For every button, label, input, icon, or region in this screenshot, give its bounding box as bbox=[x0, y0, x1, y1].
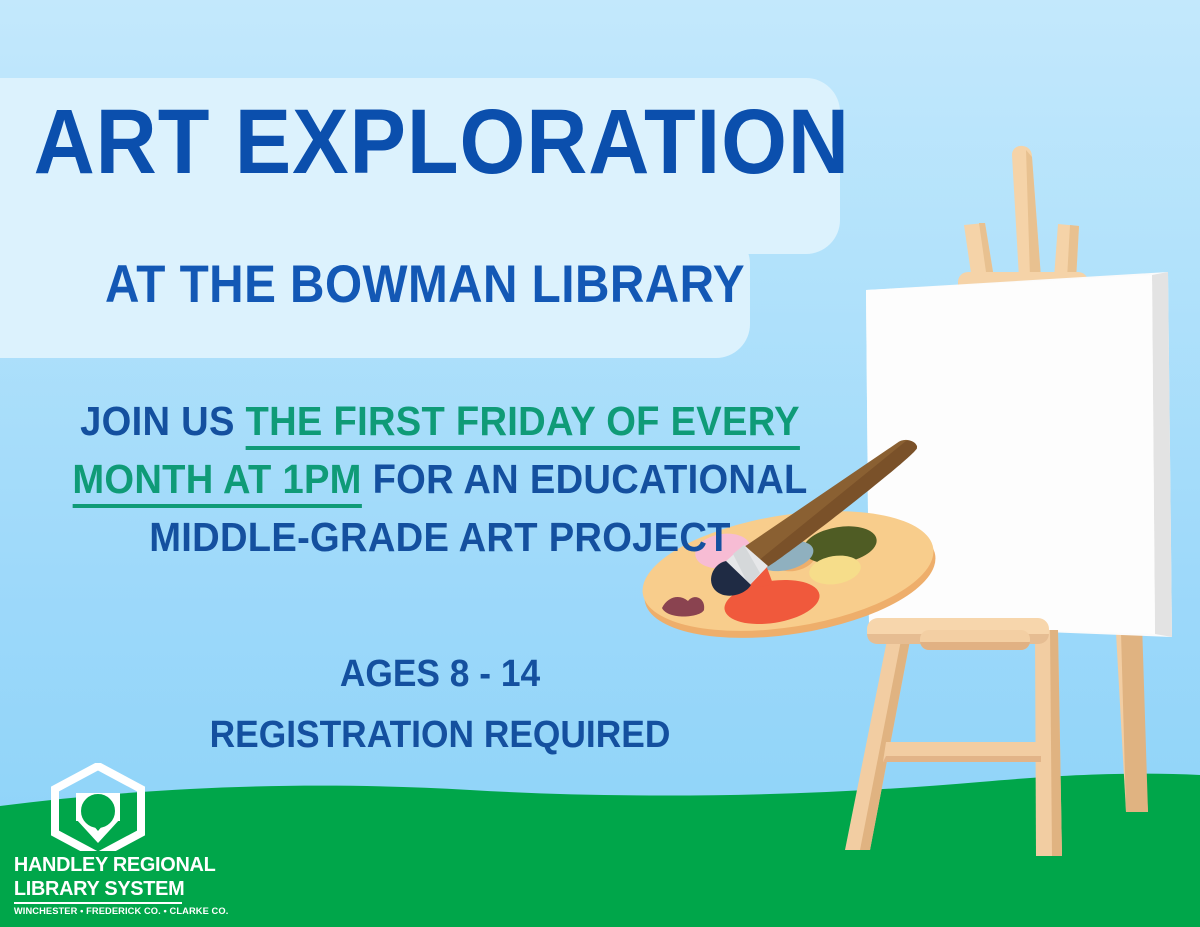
easel-mast bbox=[958, 146, 1088, 294]
description-line-3: MIDDLE-GRADE ART PROJECT bbox=[31, 508, 849, 566]
schedule-highlight-2: MONTH AT 1PM bbox=[72, 456, 361, 508]
page-title: ART EXPLORATION bbox=[34, 96, 807, 188]
page-subtitle: AT THE BOWMAN LIBRARY bbox=[43, 258, 808, 311]
easel-front-legs bbox=[845, 618, 1062, 856]
age-range: AGES 8 - 14 bbox=[31, 655, 849, 693]
registration-note: REGISTRATION REQUIRED bbox=[31, 716, 849, 754]
description-line-2: MONTH AT 1PM FOR AN EDUCATIONAL bbox=[31, 450, 849, 508]
event-description: JOIN US THE FIRST FRIDAY OF EVERY MONTH … bbox=[31, 392, 849, 567]
logo-name-line-2: LIBRARY SYSTEM bbox=[10, 879, 204, 899]
description-mid: FOR AN EDUCATIONAL bbox=[362, 456, 808, 502]
event-flyer: ART EXPLORATION AT THE BOWMAN LIBRARY JO… bbox=[0, 0, 1200, 927]
description-lead: JOIN US bbox=[80, 398, 245, 444]
schedule-highlight-1: THE FIRST FRIDAY OF EVERY bbox=[246, 398, 800, 450]
logo-tagline: WINCHESTER • FREDERICK CO. • CLARKE CO. bbox=[10, 906, 204, 917]
logo-divider bbox=[14, 902, 182, 904]
library-logo: HANDLEY REGIONAL LIBRARY SYSTEM WINCHEST… bbox=[10, 763, 210, 917]
description-line-1: JOIN US THE FIRST FRIDAY OF EVERY bbox=[31, 392, 849, 450]
hexagon-logo-icon bbox=[48, 763, 148, 851]
logo-name-line-1: HANDLEY REGIONAL bbox=[10, 855, 204, 875]
